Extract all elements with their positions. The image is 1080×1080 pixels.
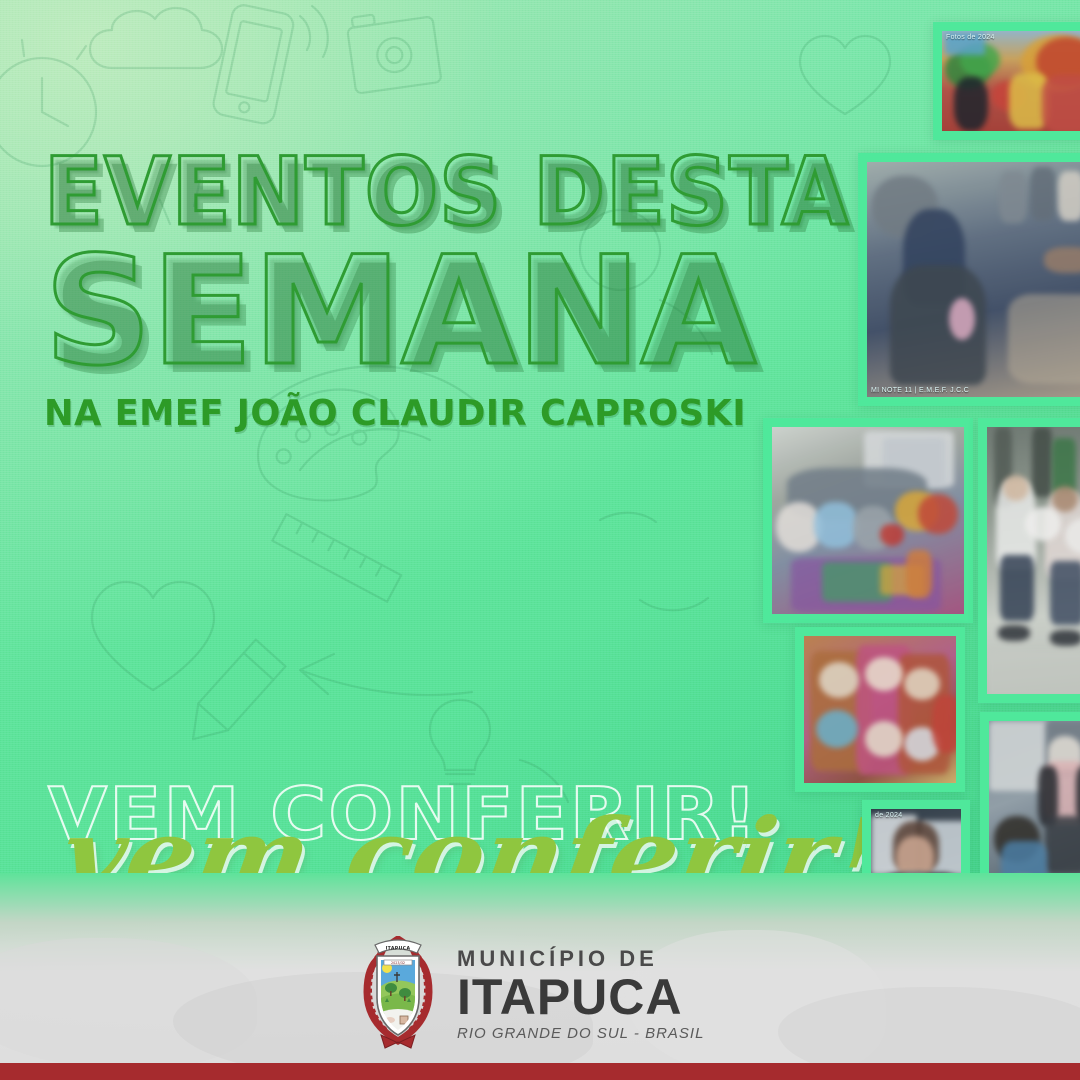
photo-caption: Fotos de 2024: [946, 34, 995, 41]
brand-line-itapuca: ITAPUCA: [457, 972, 704, 1022]
handicraft-display-photo: [804, 636, 956, 783]
headline-line-1: EVENTOS DESTA: [44, 148, 850, 237]
poster-canvas: EVENTOS DESTA SEMANA NA EMEF JOÃO CLAUDI…: [0, 0, 1080, 1080]
collage-photo-handicraft-display[interactable]: [795, 627, 965, 792]
footer-red-bar: [0, 1063, 1080, 1080]
costume-wigs-photo: Fotos de 2024: [942, 31, 1080, 131]
photo-caption: MI NOTE 11 | E.M.E.F. J.C.C: [871, 387, 969, 394]
collage-photo-students-balloons[interactable]: [978, 418, 1080, 703]
brand-line-municipio: MUNICÍPIO DE: [457, 948, 704, 970]
brand-line-state: RIO GRANDE DO SUL - BRASIL: [457, 1026, 704, 1041]
itapuca-coat-of-arms: 2023/32 ITAPUCA: [355, 936, 441, 1052]
headline-line-2: SEMANA: [44, 243, 834, 381]
collage-photo-students-outdoor[interactable]: MI NOTE 11 | E.M.E.F. J.C.C: [858, 153, 1080, 406]
crest-banner-text: ITAPUCA: [386, 946, 411, 952]
photo-caption: de 2024: [875, 812, 902, 819]
crest-motto-text: 2023/32: [391, 961, 405, 965]
students-outdoor-photo: MI NOTE 11 | E.M.E.F. J.C.C: [867, 162, 1080, 397]
headline-block: EVENTOS DESTA SEMANA NA EMEF JOÃO CLAUDI…: [44, 148, 834, 434]
municipality-brand: 2023/32 ITAPUCA MUNICÍPIO DE ITAPUCA RIO…: [355, 936, 704, 1052]
students-balloons-photo: [987, 427, 1080, 694]
brand-text-block: MUNICÍPIO DE ITAPUCA RIO GRANDE DO SUL -…: [457, 948, 704, 1041]
collage-photo-costume-wigs[interactable]: Fotos de 2024: [933, 22, 1080, 140]
classroom-group-photo: [772, 427, 964, 614]
photo-collage: Fotos de 2024 MI NOTE 11 | E.M.E.F. J.C.…: [740, 0, 1080, 1010]
school-subtitle: NA EMEF JOÃO CLAUDIR CAPROSKI: [44, 393, 818, 434]
collage-photo-classroom-group[interactable]: [763, 418, 973, 623]
